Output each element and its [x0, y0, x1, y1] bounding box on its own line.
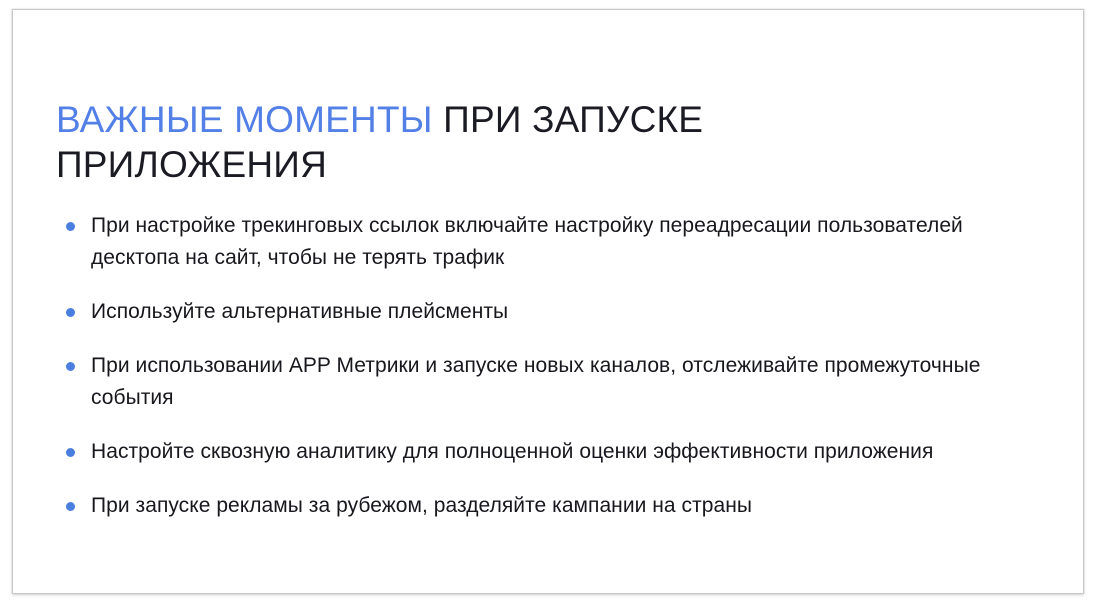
- list-item: При использовании APP Метрики и запуске …: [56, 350, 1026, 414]
- list-item: При запуске рекламы за рубежом, разделяй…: [56, 490, 1026, 522]
- list-item-text: При настройке трекинговых ссылок включай…: [91, 210, 1026, 274]
- page-title-accent: ВАЖНЫЕ МОМЕНТЫ: [56, 99, 433, 140]
- list-item: Используйте альтернативные плейсменты: [56, 296, 1026, 328]
- bullet-dot-icon: [66, 362, 75, 371]
- bullet-dot-icon: [66, 502, 75, 511]
- list-item-text: Настройте сквозную аналитику для полноце…: [91, 436, 1026, 468]
- page-title: ВАЖНЫЕ МОМЕНТЫ ПРИ ЗАПУСКЕ ПРИЛОЖЕНИЯ: [56, 97, 956, 187]
- list-item-text: При запуске рекламы за рубежом, разделяй…: [91, 490, 1026, 522]
- slide-card: ВАЖНЫЕ МОМЕНТЫ ПРИ ЗАПУСКЕ ПРИЛОЖЕНИЯ Пр…: [12, 9, 1084, 594]
- bullet-list: При настройке трекинговых ссылок включай…: [56, 210, 1026, 522]
- list-item: При настройке трекинговых ссылок включай…: [56, 210, 1026, 274]
- bullet-dot-icon: [66, 448, 75, 457]
- list-item-text: При использовании APP Метрики и запуске …: [91, 350, 1026, 414]
- slide-background: ВАЖНЫЕ МОМЕНТЫ ПРИ ЗАПУСКЕ ПРИЛОЖЕНИЯ Пр…: [0, 0, 1104, 610]
- list-item: Настройте сквозную аналитику для полноце…: [56, 436, 1026, 468]
- bullet-dot-icon: [66, 222, 75, 231]
- bullet-dot-icon: [66, 308, 75, 317]
- list-item-text: Используйте альтернативные плейсменты: [91, 296, 1026, 328]
